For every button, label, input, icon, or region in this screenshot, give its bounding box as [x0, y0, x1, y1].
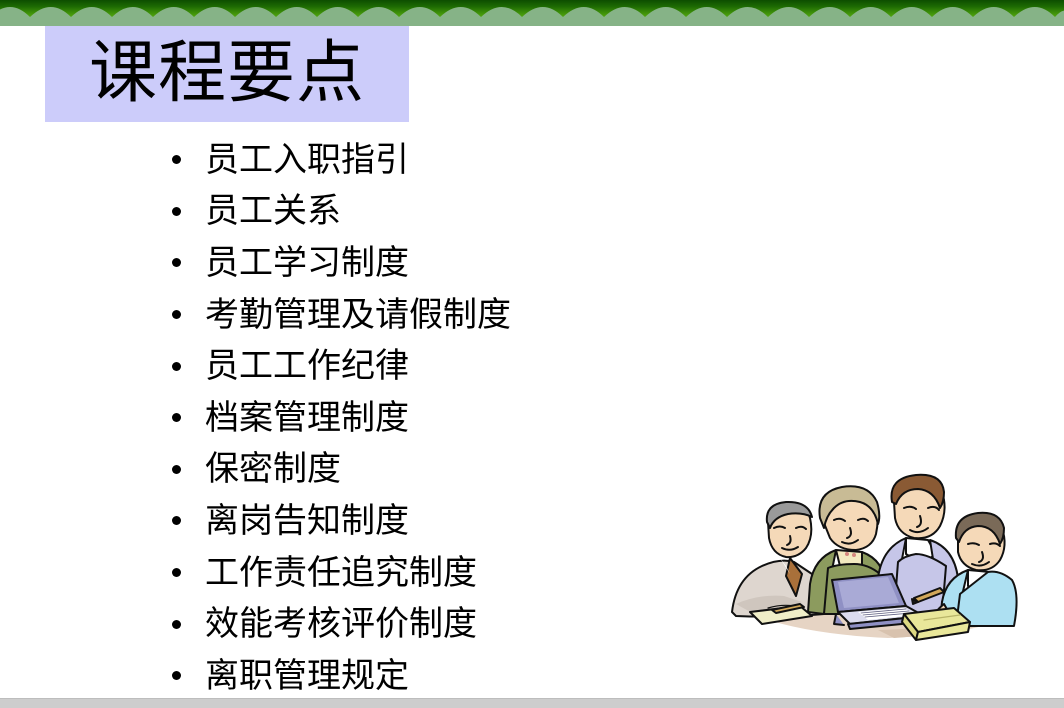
- list-item[interactable]: 员工工作纪律: [160, 340, 800, 392]
- bullet-dot-icon: [160, 620, 192, 629]
- list-item[interactable]: 考勤管理及请假制度: [160, 289, 800, 341]
- list-item-label: 离岗告知制度: [192, 502, 409, 540]
- wave-band-graphic: [0, 0, 1064, 26]
- bullet-dot-icon: [160, 310, 192, 319]
- bullet-dot-icon: [160, 207, 192, 216]
- list-item[interactable]: 档案管理制度: [160, 392, 800, 444]
- viewer-bottom-strip: [0, 698, 1064, 708]
- bullet-dot-icon: [160, 516, 192, 525]
- list-item-label: 效能考核评价制度: [192, 605, 477, 643]
- course-outline-list: 员工入职指引 员工关系 员工学习制度 考勤管理及请假制度 员工工作纪律 档案管理…: [160, 134, 800, 702]
- list-item[interactable]: 保密制度: [160, 444, 800, 496]
- list-item[interactable]: 工作责任追究制度: [160, 547, 800, 599]
- slide-canvas: 课程要点 员工入职指引 员工关系 员工学习制度 考勤管理及请假制度 员工工作纪律…: [0, 0, 1064, 708]
- list-item[interactable]: 效能考核评价制度: [160, 598, 800, 650]
- bullet-dot-icon: [160, 671, 192, 680]
- list-item-label: 档案管理制度: [192, 399, 409, 437]
- top-decorative-wave-band: [0, 0, 1064, 26]
- list-item-label: 员工入职指引: [192, 141, 409, 179]
- list-item-label: 员工关系: [192, 192, 341, 230]
- bullet-dot-icon: [160, 258, 192, 267]
- list-item[interactable]: 离职管理规定: [160, 650, 800, 702]
- list-item-label: 离职管理规定: [192, 657, 409, 695]
- list-item[interactable]: 离岗告知制度: [160, 495, 800, 547]
- list-item[interactable]: 员工入职指引: [160, 134, 800, 186]
- bullet-dot-icon: [160, 413, 192, 422]
- bullet-dot-icon: [160, 568, 192, 577]
- list-item-label: 员工工作纪律: [192, 347, 409, 385]
- page-title: 课程要点: [45, 26, 409, 122]
- bullet-dot-icon: [160, 155, 192, 164]
- list-item[interactable]: 员工学习制度: [160, 237, 800, 289]
- list-item-label: 考勤管理及请假制度: [192, 296, 511, 334]
- teamwork-clipart-image: [728, 462, 1028, 662]
- bullet-dot-icon: [160, 362, 192, 371]
- list-item[interactable]: 员工关系: [160, 186, 800, 238]
- bullet-dot-icon: [160, 465, 192, 474]
- four-people-around-laptop-icon: [728, 462, 1028, 662]
- list-item-label: 员工学习制度: [192, 244, 409, 282]
- list-item-label: 工作责任追究制度: [192, 554, 477, 592]
- list-item-label: 保密制度: [192, 450, 341, 488]
